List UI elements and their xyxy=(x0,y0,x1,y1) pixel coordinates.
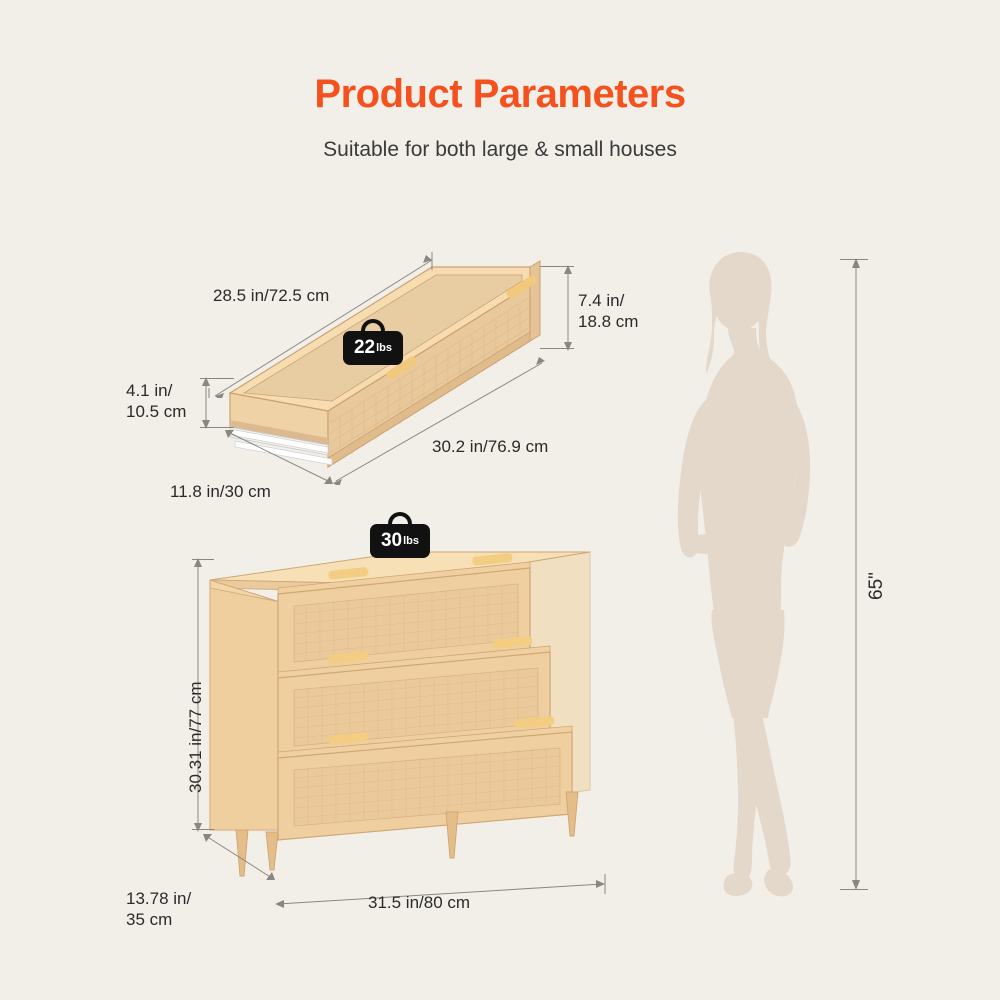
human-silhouette xyxy=(640,250,860,900)
scale-height-dimension xyxy=(848,256,864,892)
dresser-weight-badge: 30lbs xyxy=(370,524,430,558)
drawer-right-ext-bottom xyxy=(540,348,574,349)
product-parameters-page: Product Parameters Suitable for both lar… xyxy=(0,0,1000,1000)
drawer-left-ext-top xyxy=(200,378,234,379)
drawer-right-height-dimension xyxy=(560,263,576,353)
dresser-height-label: 30.31 in/77 cm xyxy=(186,681,206,793)
scale-height-label: 65" xyxy=(866,572,888,600)
drawer-depth-label: 11.8 in/30 cm xyxy=(170,481,271,502)
dresser-weight-unit: lbs xyxy=(403,535,419,547)
drawer-right-height-label: 7.4 in/ 18.8 cm xyxy=(578,290,638,333)
drawer-right-ext-top xyxy=(540,266,574,267)
page-subtitle: Suitable for both large & small houses xyxy=(0,138,1000,162)
dresser-weight-handle-icon xyxy=(388,512,412,528)
scale-ext-bottom xyxy=(840,889,868,890)
drawer-left-height-label: 4.1 in/ 10.5 cm xyxy=(126,380,186,423)
dresser-width-label: 31.5 in/80 cm xyxy=(368,892,470,913)
drawer-length-label: 30.2 in/76.9 cm xyxy=(432,436,548,457)
dresser-weight-value: 30 xyxy=(381,530,402,552)
drawer-left-height-dimension xyxy=(198,375,214,431)
drawer-width-label: 28.5 in/72.5 cm xyxy=(213,285,329,306)
dresser-height-ext-top xyxy=(192,559,214,560)
drawer-length-dimension xyxy=(330,355,555,485)
page-title: Product Parameters xyxy=(0,72,1000,117)
scale-ext-top xyxy=(840,259,868,260)
dresser-depth-label: 13.78 in/ 35 cm xyxy=(126,888,191,931)
